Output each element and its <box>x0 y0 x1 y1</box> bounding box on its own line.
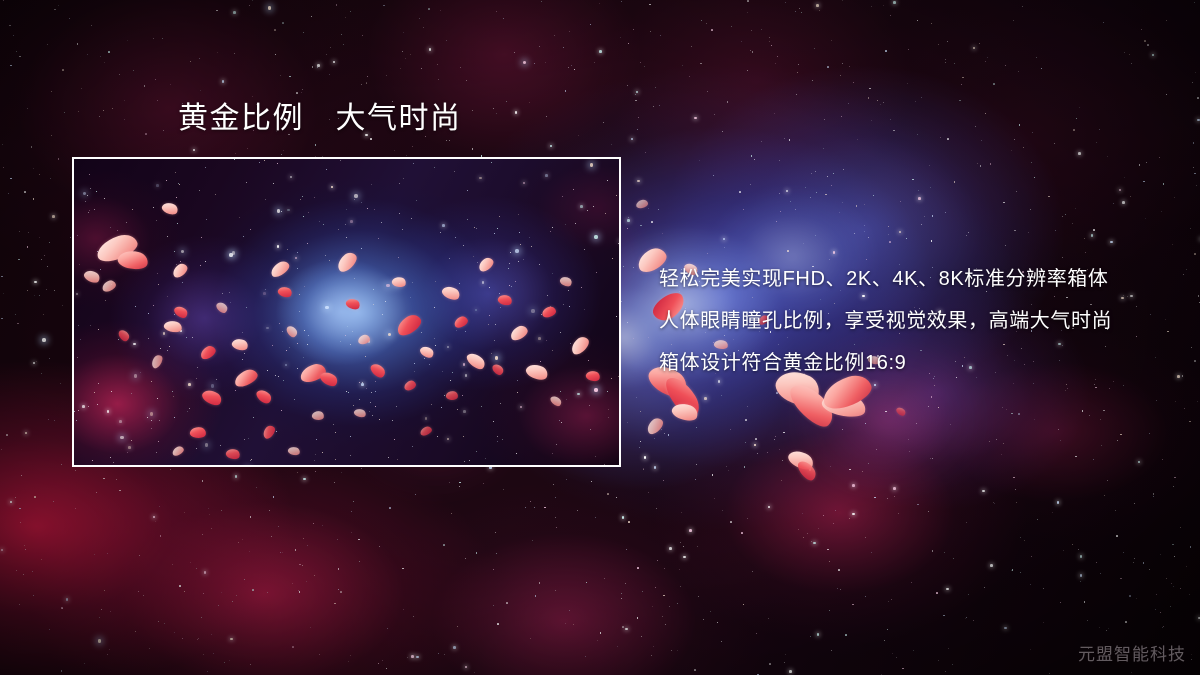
body-line-2: 人体眼睛瞳孔比例，享受视觉效果，高端大气时尚 <box>659 300 1179 342</box>
slide-canvas: 黄金比例 大气时尚 轻松完美实现FHD、2K、4K、8K标准分辨率箱体 人体眼睛… <box>0 0 1200 675</box>
panel-nebula-background <box>74 159 619 465</box>
page-title: 黄金比例 大气时尚 <box>178 102 462 135</box>
framed-image-panel <box>72 157 621 467</box>
watermark-label: 元盟智能科技 <box>1078 640 1186 665</box>
body-line-3: 箱体设计符合黄金比例16:9 <box>659 342 1179 384</box>
body-copy-block: 轻松完美实现FHD、2K、4K、8K标准分辨率箱体 人体眼睛瞳孔比例，享受视觉效… <box>659 258 1179 384</box>
body-line-1: 轻松完美实现FHD、2K、4K、8K标准分辨率箱体 <box>659 258 1179 300</box>
